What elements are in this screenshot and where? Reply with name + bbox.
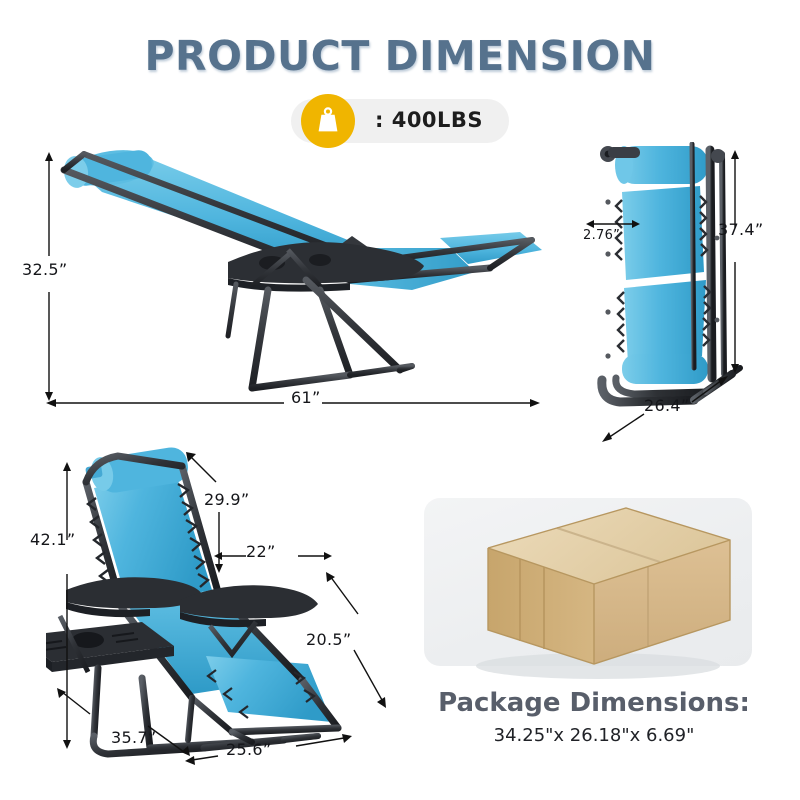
upright-back-height-tail — [212, 512, 226, 574]
page-title: PRODUCT DIMENSION — [0, 32, 800, 80]
weight-capacity-label: : 400LBS — [375, 108, 483, 132]
folded-height-arrow — [728, 150, 742, 374]
dim-upright-height: 42.1” — [30, 530, 75, 549]
dim-upright-seat-depth: 20.5” — [306, 630, 351, 649]
dim-reclined-length: 61” — [291, 388, 321, 407]
package-dimensions-value: 34.25"x 26.18"x 6.69" — [424, 725, 764, 746]
weight-capacity-badge: : 400LBS — [291, 99, 509, 143]
dim-upright-base-width: 25.6” — [226, 740, 271, 759]
dim-upright-back-height: 29.9” — [204, 490, 249, 509]
dim-upright-seat-width: 22” — [246, 542, 276, 561]
weight-glyph — [311, 104, 345, 138]
package-dimensions-heading: Package Dimensions: — [424, 688, 764, 718]
dim-folded-thickness: 2.76” — [583, 228, 620, 243]
upright-seat-depth-tail — [352, 650, 398, 716]
product-dimension-infographic: PRODUCT DIMENSION : 400LBS — [0, 0, 800, 800]
upright-base-length-arrow — [56, 688, 196, 762]
reclined-chair-illustration — [20, 140, 580, 430]
dim-folded-depth: 26.4” — [644, 396, 689, 415]
dim-upright-base-length: 35.7” — [111, 728, 156, 747]
package-box-illustration — [448, 498, 768, 698]
dim-reclined-height: 32.5” — [22, 260, 67, 279]
dim-folded-height: 37.4” — [718, 220, 763, 239]
